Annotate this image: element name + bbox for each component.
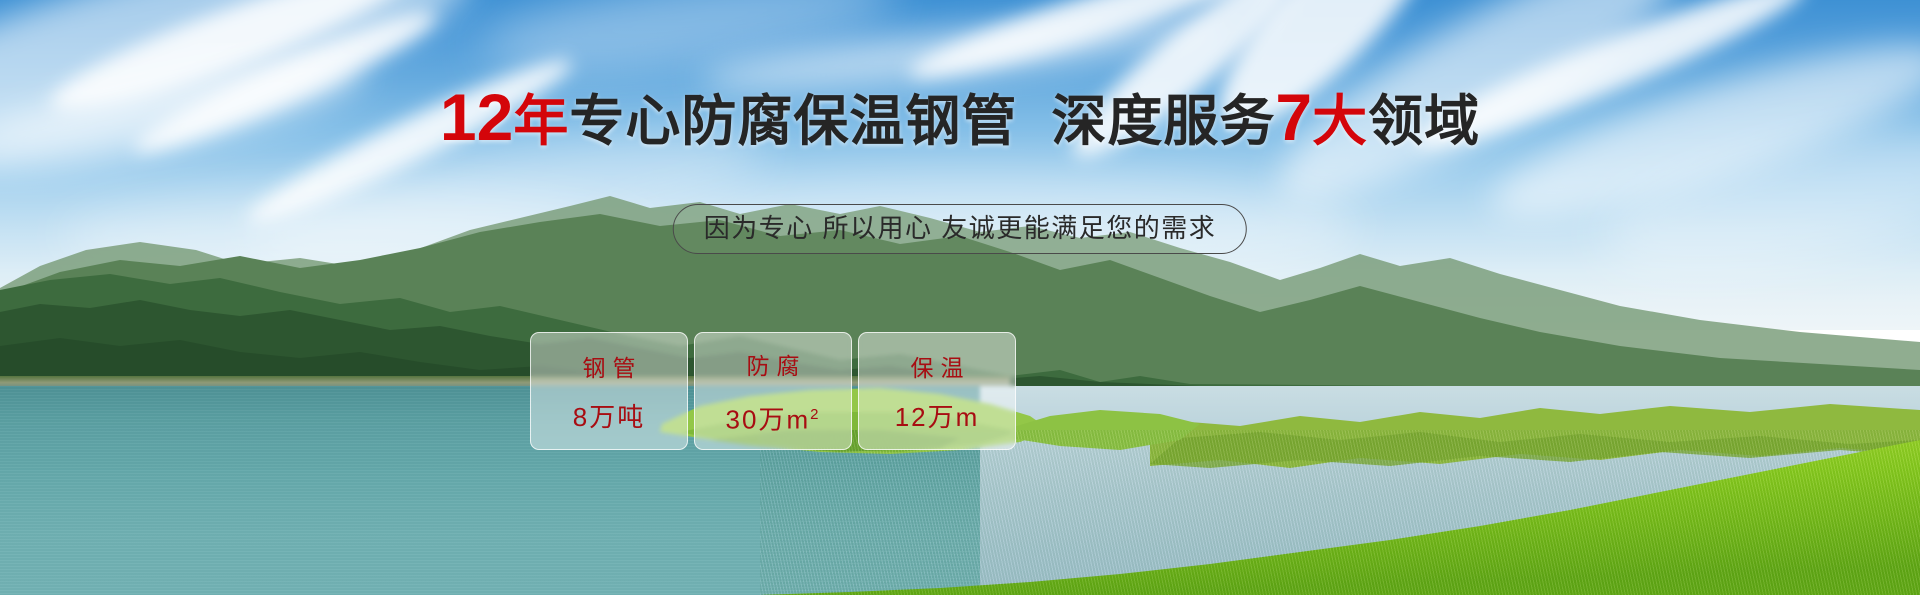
stat-value-text: 30万m — [726, 404, 811, 434]
page-title: 12年专心防腐保温钢管深度服务7大领域 — [0, 86, 1920, 152]
headline-phrase-three: 领域 — [1368, 90, 1480, 152]
hero-banner: 12年专心防腐保温钢管深度服务7大领域 因为专心 所以用心 友诚更能满足您的需求… — [0, 0, 1920, 595]
headline-fields-unit: 大 — [1312, 90, 1368, 152]
stat-card-insulation: 保温 12万m — [858, 332, 1016, 450]
subtitle-text: 因为专心 所以用心 友诚更能满足您的需求 — [704, 213, 1216, 243]
stat-value-superscript: 2 — [810, 406, 820, 423]
headline-fields-number: 7 — [1275, 80, 1312, 154]
headline-phrase-two: 深度服务 — [1051, 90, 1275, 152]
stat-title: 保温 — [904, 354, 971, 382]
stat-value: 30万m2 — [726, 400, 821, 435]
stat-title: 钢管 — [576, 354, 643, 382]
stat-value-text: 12万m — [895, 402, 980, 432]
stat-title: 防腐 — [740, 352, 807, 380]
stat-card-anticorrosion: 防腐 30万m2 — [694, 332, 852, 450]
banner-content: 12年专心防腐保温钢管深度服务7大领域 因为专心 所以用心 友诚更能满足您的需求… — [0, 0, 1920, 595]
stat-value: 12万m — [895, 402, 980, 432]
stats-card-group: 钢管 8万吨 防腐 30万m2 保温 12万m — [530, 332, 1016, 450]
headline-years-number: 12 — [440, 80, 513, 154]
headline-phrase-one: 专心防腐保温钢管 — [569, 90, 1017, 152]
stat-value-text: 8万吨 — [573, 402, 645, 432]
stat-card-steel-pipe: 钢管 8万吨 — [530, 332, 688, 450]
subtitle-pill: 因为专心 所以用心 友诚更能满足您的需求 — [673, 204, 1247, 254]
stat-value: 8万吨 — [573, 402, 645, 432]
headline-years-unit: 年 — [513, 90, 569, 152]
